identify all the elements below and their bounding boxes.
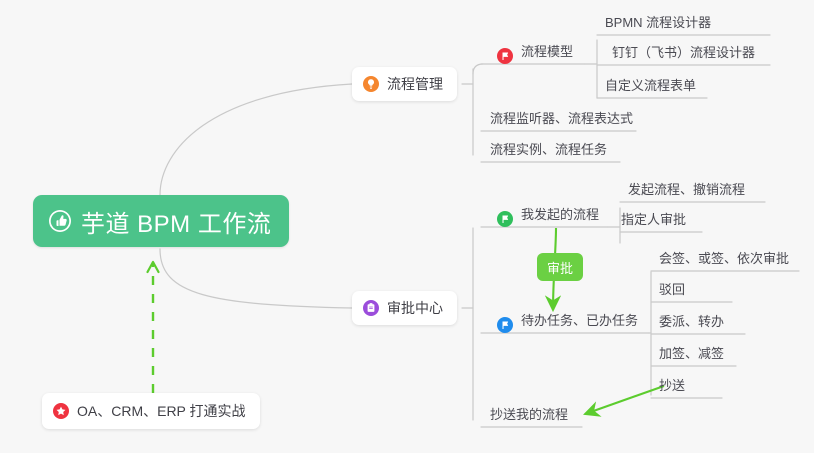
root-label: 芋道 BPM 工作流 bbox=[81, 204, 271, 239]
leaf-label-reject: 驳回 bbox=[659, 280, 685, 302]
node-label-listener-expression: 流程监听器、流程表达式 bbox=[490, 109, 633, 131]
star-icon bbox=[53, 403, 69, 419]
wire-root-to-approval-center bbox=[160, 249, 352, 308]
floating-note-label: OA、CRM、ERP 打通实战 bbox=[77, 401, 246, 421]
node-label-instance-task: 流程实例、流程任务 bbox=[490, 140, 607, 162]
lightbulb-icon bbox=[363, 76, 379, 92]
leaf-label-cc: 抄送 bbox=[659, 376, 685, 398]
wire-root-to-process-management bbox=[160, 84, 352, 195]
branch-node-approval-center[interactable]: 审批中心 bbox=[352, 291, 457, 325]
branch-node-process-management[interactable]: 流程管理 bbox=[352, 67, 457, 101]
leaf-add-remove-sign[interactable]: 加签、减签 bbox=[652, 340, 730, 366]
node-cc-to-me[interactable]: 抄送我的流程 bbox=[483, 401, 574, 427]
wire-pm-corner-top bbox=[473, 64, 483, 74]
node-label-process-model: 流程模型 bbox=[521, 42, 573, 64]
leaf-label-bpmn-designer: BPMN 流程设计器 bbox=[605, 13, 711, 35]
node-label-todo-done: 待办任务、已办任务 bbox=[521, 311, 638, 333]
leaf-label-assignee-approval: 指定人审批 bbox=[621, 210, 686, 232]
node-my-initiated[interactable]: 我发起的流程 bbox=[490, 201, 605, 227]
thumbs-up-icon bbox=[49, 210, 71, 232]
root-node[interactable]: 芋道 BPM 工作流 bbox=[33, 195, 289, 247]
mindmap-canvas: 芋道 BPM 工作流 流程管理 流程模型 BPMN 流程设计器 钉钉（飞书）流程… bbox=[0, 0, 814, 453]
leaf-countersign[interactable]: 会签、或签、依次审批 bbox=[652, 245, 795, 271]
leaf-label-dingtalk-feishu-designer: 钉钉（飞书）流程设计器 bbox=[612, 43, 755, 65]
leaf-reject[interactable]: 驳回 bbox=[652, 276, 691, 302]
node-instance-task[interactable]: 流程实例、流程任务 bbox=[483, 136, 613, 162]
flag-icon bbox=[497, 48, 513, 64]
leaf-assignee-approval[interactable]: 指定人审批 bbox=[614, 206, 692, 232]
leaf-delegate-transfer[interactable]: 委派、转办 bbox=[652, 308, 730, 334]
leaf-custom-process-form[interactable]: 自定义流程表单 bbox=[598, 72, 702, 98]
leaf-bpmn-designer[interactable]: BPMN 流程设计器 bbox=[598, 9, 717, 35]
flag-icon bbox=[497, 317, 513, 333]
callout-note-to-root bbox=[148, 262, 159, 393]
flag-icon bbox=[497, 211, 513, 227]
leaf-label-delegate-transfer: 委派、转办 bbox=[659, 312, 724, 334]
node-label-cc-to-me: 抄送我的流程 bbox=[490, 405, 568, 427]
branch-label-process-management: 流程管理 bbox=[387, 74, 443, 94]
branch-label-approval-center: 审批中心 bbox=[387, 298, 443, 318]
leaf-label-countersign: 会签、或签、依次审批 bbox=[659, 249, 789, 271]
tag-label-approval: 审批 bbox=[547, 258, 573, 277]
leaf-label-start-cancel: 发起流程、撤销流程 bbox=[628, 180, 745, 202]
leaf-label-add-remove-sign: 加签、减签 bbox=[659, 344, 724, 366]
node-todo-done[interactable]: 待办任务、已办任务 bbox=[490, 307, 644, 333]
leaf-start-cancel[interactable]: 发起流程、撤销流程 bbox=[621, 176, 751, 202]
node-process-model[interactable]: 流程模型 bbox=[490, 38, 579, 64]
leaf-dingtalk-feishu-designer[interactable]: 钉钉（飞书）流程设计器 bbox=[605, 39, 761, 65]
floating-note-node[interactable]: OA、CRM、ERP 打通实战 bbox=[42, 393, 260, 429]
leaf-label-custom-process-form: 自定义流程表单 bbox=[605, 76, 696, 98]
node-listener-expression[interactable]: 流程监听器、流程表达式 bbox=[483, 105, 639, 131]
leaf-cc[interactable]: 抄送 bbox=[652, 372, 691, 398]
node-label-my-initiated: 我发起的流程 bbox=[521, 205, 599, 227]
clipboard-icon bbox=[363, 300, 379, 316]
tag-node-approval[interactable]: 审批 bbox=[537, 253, 583, 281]
